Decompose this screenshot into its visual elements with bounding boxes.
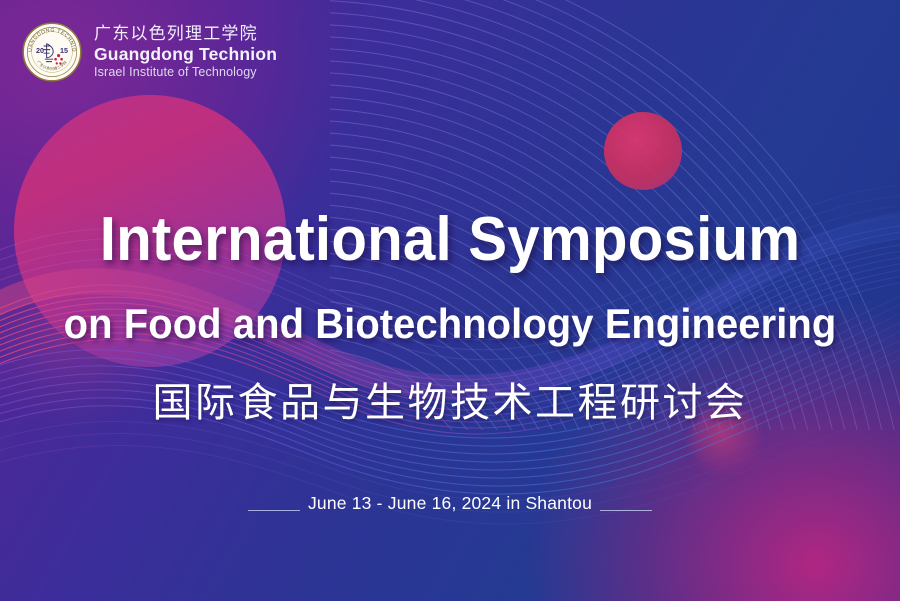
hero-content: International Symposium on Food and Biot… bbox=[0, 0, 900, 601]
institution-name-en: Guangdong Technion bbox=[94, 45, 277, 64]
date-rule-right-icon bbox=[600, 510, 652, 511]
svg-text:15: 15 bbox=[60, 46, 68, 55]
event-banner: GUANGDONG TECHNION 广东以色列理工学院 20 bbox=[0, 0, 900, 601]
date-rule-left-icon bbox=[248, 510, 300, 511]
event-title-cn: 国际食品与生物技术工程研讨会 bbox=[0, 370, 900, 428]
guangdong-technion-seal-icon: GUANGDONG TECHNION 广东以色列理工学院 20 bbox=[22, 22, 82, 82]
event-date-row: June 13 - June 16, 2024 in Shantou bbox=[0, 493, 900, 514]
institution-logo-lockup[interactable]: GUANGDONG TECHNION 广东以色列理工学院 20 bbox=[22, 22, 277, 82]
svg-text:20: 20 bbox=[36, 46, 44, 55]
event-title-line2: on Food and Biotechnology Engineering bbox=[23, 300, 878, 348]
institution-name-cn: 广东以色列理工学院 bbox=[94, 25, 277, 43]
event-title-line1: International Symposium bbox=[27, 204, 873, 275]
institution-name-block: 广东以色列理工学院 Guangdong Technion Israel Inst… bbox=[94, 25, 277, 79]
event-date-text: June 13 - June 16, 2024 in Shantou bbox=[308, 493, 592, 514]
institution-subtitle-en: Israel Institute of Technology bbox=[94, 66, 277, 79]
